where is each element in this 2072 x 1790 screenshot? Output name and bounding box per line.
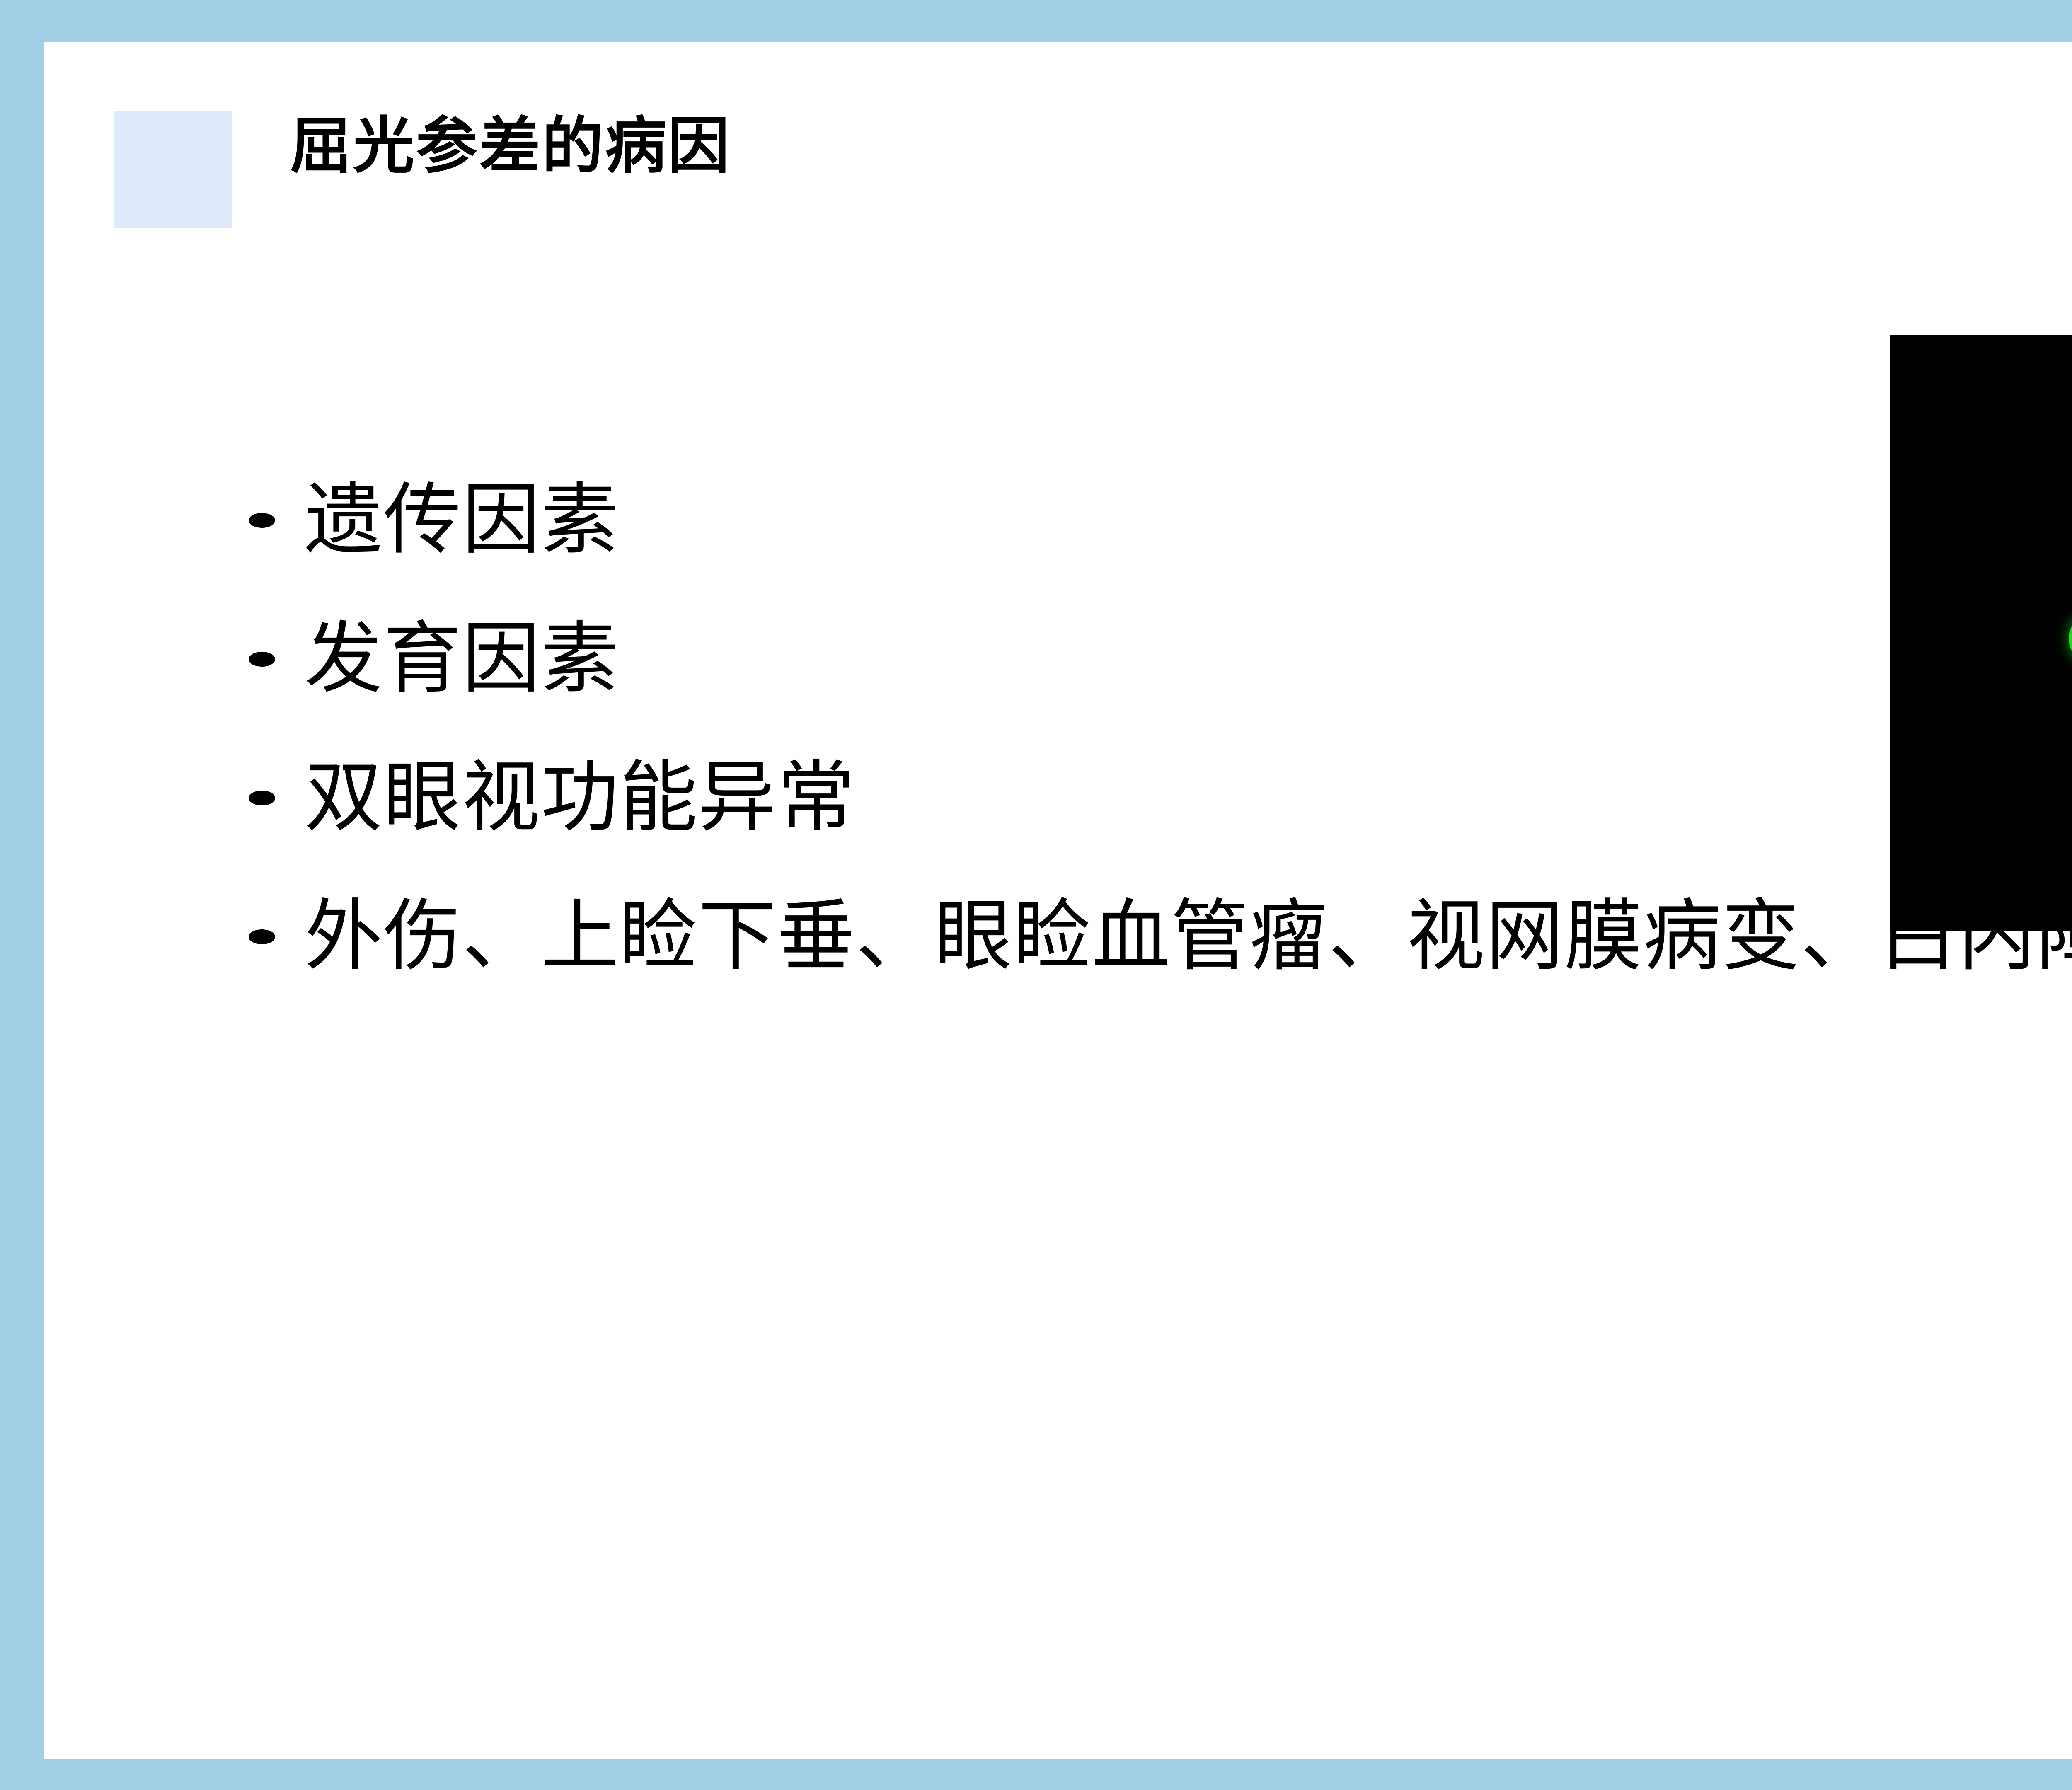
list-item-label: 双眼视功能异常 bbox=[305, 750, 856, 845]
slide-border-frame: 屈光参差的病因 遗传因素 发育因素 双眼视功能异常 外伤、上睑下垂、眼睑血管瘤、… bbox=[0, 0, 2072, 1790]
list-item-label: 发育因素 bbox=[305, 611, 620, 706]
title-accent-square bbox=[114, 111, 232, 228]
green-dot-left-icon bbox=[2069, 612, 2072, 665]
bullet-dot-icon bbox=[249, 929, 275, 944]
list-item: 遗传因素 bbox=[242, 461, 2072, 600]
bullet-dot-icon bbox=[249, 791, 275, 805]
page-title: 屈光参差的病因 bbox=[290, 104, 1616, 187]
slide-page: 屈光参差的病因 遗传因素 发育因素 双眼视功能异常 外伤、上睑下垂、眼睑血管瘤、… bbox=[44, 42, 2072, 1759]
worth-four-dot-figure bbox=[1890, 335, 2072, 931]
bullet-dot-icon bbox=[249, 513, 275, 528]
list-item-label: 外伤、上睑下垂、眼睑血管瘤、视网膜病变、白内障等 bbox=[305, 889, 2072, 984]
list-item: 外伤、上睑下垂、眼睑血管瘤、视网膜病变、白内障等 bbox=[242, 877, 2072, 1016]
bullet-list: 遗传因素 发育因素 双眼视功能异常 外伤、上睑下垂、眼睑血管瘤、视网膜病变、白内… bbox=[242, 461, 2072, 1016]
list-item: 双眼视功能异常 bbox=[242, 738, 2072, 877]
bullet-dot-icon bbox=[249, 652, 275, 667]
list-item-label: 遗传因素 bbox=[305, 472, 620, 568]
list-item: 发育因素 bbox=[242, 600, 2072, 738]
